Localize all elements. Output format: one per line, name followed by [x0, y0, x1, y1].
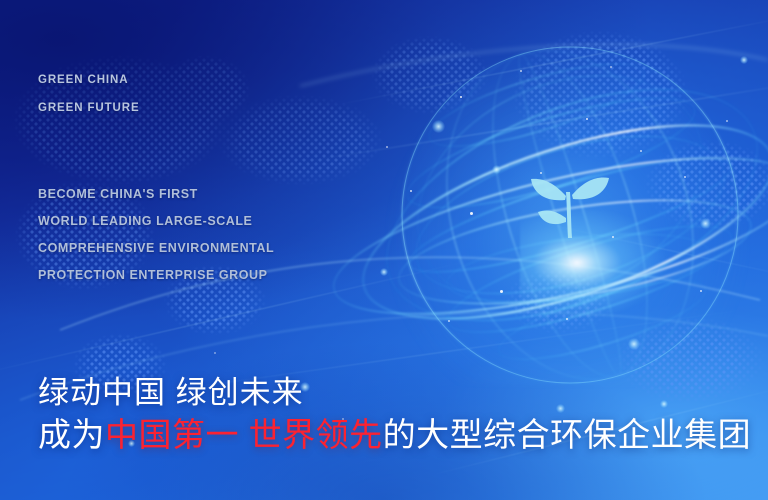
headline-suffix: 的大型综合环保企业集团	[383, 416, 752, 453]
tagline-mid-line-4: PROTECTION ENTERPRISE GROUP	[38, 268, 267, 282]
hero-banner: GREEN CHINA GREEN FUTURE BECOME CHINA'S …	[0, 0, 768, 500]
tagline-mid-line-1: BECOME CHINA'S FIRST	[38, 187, 198, 201]
text-content: GREEN CHINA GREEN FUTURE BECOME CHINA'S …	[0, 0, 768, 500]
tagline-top-line-1: GREEN CHINA	[38, 74, 128, 86]
headline-line-1: 绿动中国 绿创未来	[38, 367, 304, 412]
headline-prefix: 成为	[38, 416, 105, 453]
tagline-mid-line-3: COMPREHENSIVE ENVIRONMENTAL	[38, 241, 274, 255]
headline-line-2: 成为中国第一 世界领先的大型综合环保企业集团	[38, 408, 751, 456]
tagline-mid-line-2: WORLD LEADING LARGE-SCALE	[38, 214, 252, 228]
headline-highlight: 中国第一 世界领先	[105, 416, 383, 453]
tagline-top-line-2: GREEN FUTURE	[38, 102, 140, 114]
